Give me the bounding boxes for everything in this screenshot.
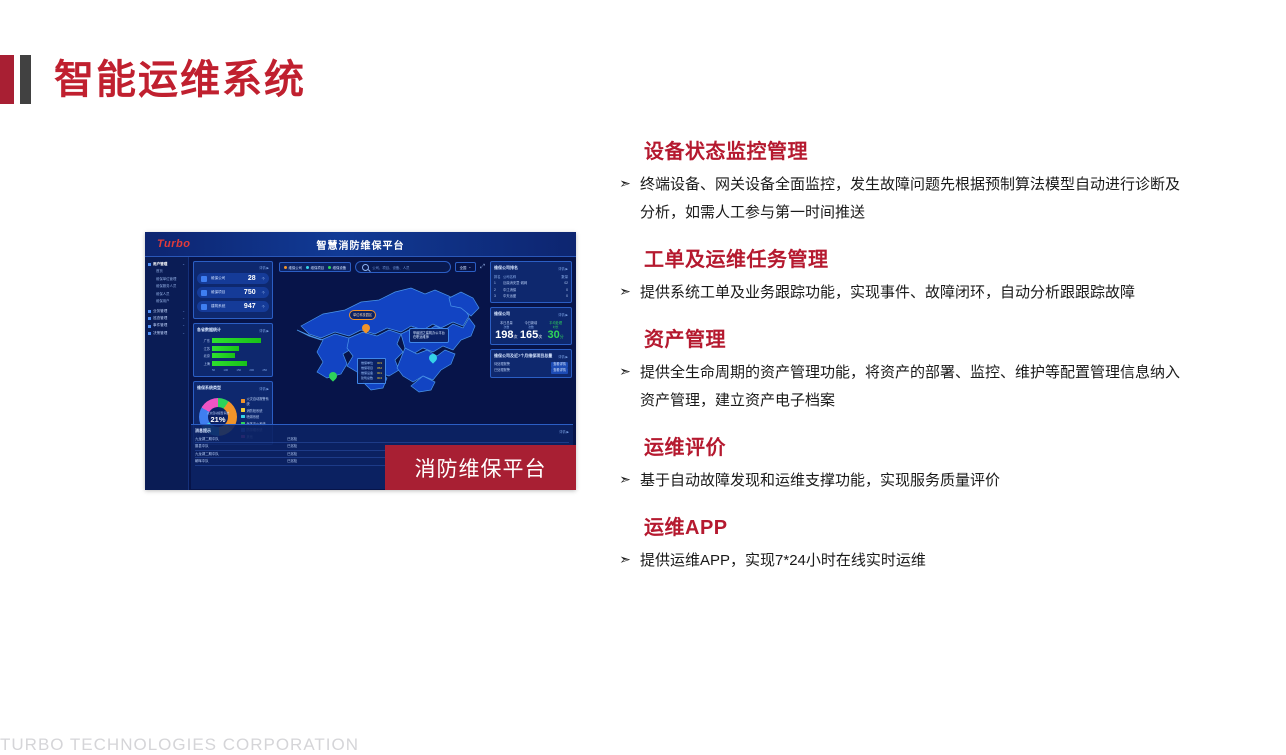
- slide-title-block: 智能运维系统: [0, 55, 306, 104]
- chip-dot-icon: [306, 266, 309, 269]
- bar-chart-card: 各省数据统计 详情 ▶ 广东 江苏 北京: [193, 323, 273, 377]
- detail-value: 004: [377, 376, 382, 381]
- message-table-more[interactable]: 详情 ▶: [559, 429, 569, 434]
- map-chip[interactable]: 维保项目: [306, 265, 324, 270]
- bar-fill: [212, 338, 261, 343]
- row-name: 九龙湖二期中队: [195, 451, 287, 457]
- fullscreen-icon[interactable]: ⤢: [480, 264, 485, 270]
- alert-card-title: 维保公司及近7个月维保项目总量: [494, 353, 552, 359]
- stat-value: 947: [244, 303, 256, 310]
- company-icon: [201, 276, 207, 282]
- menu-dot-icon: [148, 332, 151, 335]
- feature-body: 终端设备、网关设备全面监控，发生故障问题先根据预制算法模型自动进行诊断及分析，如…: [640, 171, 1188, 227]
- legend-item: 消防栓系统: [241, 408, 269, 413]
- legend-label: 消防栓系统: [247, 408, 263, 413]
- chevron-down-icon: ⌄: [468, 265, 471, 269]
- dashboard-sidebar[interactable]: 用户管理 ⌄ 首页 维保单位管理 维保服务人员 维保人员 维保用户 业务管理 ⌄…: [145, 257, 189, 490]
- rank-card-more[interactable]: 详情 ▶: [558, 266, 568, 271]
- kpi-card-more[interactable]: 详情 ▶: [558, 312, 568, 317]
- alert-action[interactable]: 查看详情: [551, 362, 568, 368]
- legend-swatch: [241, 408, 245, 412]
- menu-dot-icon: [148, 263, 151, 266]
- screenshot-caption-banner: 消防维保平台: [385, 445, 576, 490]
- row-name: 九龙湖二期中队: [195, 436, 287, 442]
- map-scope-select[interactable]: 全国 ⌄: [455, 262, 477, 272]
- feature-item-device-monitoring: 设备状态监控管理 ➣ 终端设备、网关设备全面监控，发生故障问题先根据预制算法模型…: [618, 135, 1188, 227]
- message-table-header: 消息提示 详情 ▶: [195, 428, 569, 434]
- map-pin-cyan[interactable]: [429, 354, 437, 365]
- sidebar-item-events[interactable]: 事件管理 ⌄: [145, 322, 188, 329]
- search-placeholder: 公司、项目、设备、人员: [372, 265, 409, 270]
- chip-label: 维保设备: [333, 265, 347, 270]
- feature-body: 提供运维APP，实现7*24小时在线实时运维: [640, 547, 926, 575]
- feature-body: 提供系统工单及业务跟踪功能，实现事件、故障闭环，自动分析跟跟踪故障: [640, 279, 1135, 307]
- row-status: 已巡检: [287, 443, 347, 449]
- chevron-down-icon: ⌄: [182, 323, 185, 328]
- axis-tick: 100: [223, 368, 228, 372]
- slide-footer: TURBO TECHNOLOGIES CORPORATION: [0, 735, 359, 755]
- donut-center-value: 21%: [210, 415, 225, 424]
- rank-card-title: 维保公司排名: [494, 265, 518, 271]
- dashboard-title: 智慧消防维保平台: [145, 237, 576, 252]
- kpi-item: 今日新增 次数 165次: [519, 320, 544, 341]
- feature-heading: 运维APP: [644, 511, 1188, 540]
- sidebar-item-label: 用户管理: [153, 262, 167, 267]
- rank-position: 3: [494, 293, 503, 299]
- rank-count: 0: [556, 293, 568, 299]
- menu-dot-icon: [148, 310, 151, 313]
- stat-row: 建筑系统 947 个: [197, 301, 269, 312]
- kpi-number: 30: [548, 329, 560, 341]
- map-chip[interactable]: 维保公司: [284, 265, 302, 270]
- bar-item: 江苏: [199, 346, 267, 351]
- sidebar-item-inspection[interactable]: 巡查管理 ⌄: [145, 315, 188, 322]
- sidebar-item-decision[interactable]: 决策管理 ⌄: [145, 330, 188, 337]
- sidebar-item-label: 业务管理: [153, 309, 167, 314]
- feature-item-ops-app: 运维APP ➣ 提供运维APP，实现7*24小时在线实时运维: [618, 511, 1188, 575]
- feature-item-work-order: 工单及运维任务管理 ➣ 提供系统工单及业务跟踪功能，实现事件、故障闭环，自动分析…: [618, 243, 1188, 307]
- stat-label: 维保项目: [211, 290, 240, 295]
- kpi-item: 平均处理 时长 30分: [543, 320, 568, 341]
- bar-card-header: 各省数据统计 详情 ▶: [197, 327, 269, 333]
- alert-action[interactable]: 查看详情: [551, 368, 568, 374]
- stat-label: 建筑系统: [211, 304, 240, 309]
- map-search-input[interactable]: 公司、项目、设备、人员: [355, 261, 450, 273]
- stat-value: 28: [248, 275, 256, 282]
- bar-fill: [212, 353, 235, 358]
- kpi-item: 本日总量 次数 198次: [494, 320, 519, 341]
- detail-row: 建筑总数 004: [361, 376, 382, 381]
- map-chip[interactable]: 维保设备: [328, 265, 346, 270]
- map-marker-tooltip-cyan[interactable]: 甲级团之建筑办公平台 在职运维师: [409, 328, 449, 343]
- map-marker-detail-table: 维保单位 003 维保项目 052 维保设备 001 建筑总数 004: [357, 358, 386, 384]
- map-pin-green[interactable]: [329, 372, 337, 383]
- kpi-card-header: 维保公司 详情 ▶: [494, 311, 568, 317]
- sidebar-item-user-management[interactable]: 用户管理 ⌄: [145, 261, 188, 268]
- kpi-unit: 次: [538, 334, 542, 339]
- stat-row: 维保项目 750 个: [197, 287, 269, 298]
- feature-heading: 运维评价: [644, 431, 1188, 460]
- axis-tick: 50: [212, 368, 215, 372]
- stat-card: 详情 ▶ 维保公司 28 个 维保项目 750 个 建筑系统 94: [193, 261, 273, 319]
- bullet-arrow-icon: ➣: [618, 279, 632, 303]
- bar-label: 北京: [199, 353, 210, 358]
- bar-axis: 50 100 150 200 250: [199, 368, 267, 372]
- kpi-unit: 分: [560, 334, 564, 339]
- donut-center: 火灾自动报警系统 21%: [199, 398, 237, 436]
- kpi-value: 165次: [519, 329, 544, 341]
- page-title: 智能运维系统: [54, 60, 306, 100]
- bar-fill: [212, 361, 247, 366]
- legend-item: 喷淋系统: [241, 414, 269, 419]
- building-icon: [201, 304, 207, 310]
- sidebar-subitem[interactable]: 维保用户: [145, 298, 188, 305]
- sidebar-item-label: 巡查管理: [153, 316, 167, 321]
- chip-dot-icon: [284, 266, 287, 269]
- project-icon: [201, 290, 207, 296]
- donut-ring: 火灾自动报警系统 21%: [199, 398, 237, 436]
- axis-tick: 200: [249, 368, 254, 372]
- bar-label: 江苏: [199, 346, 210, 351]
- stat-unit: 个: [262, 290, 265, 295]
- feature-body: 提供全生命周期的资产管理功能，将资产的部署、监控、维护等配置管理信息纳入资产管理…: [640, 359, 1188, 415]
- sidebar-subitem[interactable]: 维保人员: [145, 291, 188, 298]
- stat-unit: 个: [262, 304, 265, 309]
- bar-label: 广东: [199, 338, 210, 343]
- chevron-down-icon: ⌄: [182, 262, 185, 267]
- alert-card-header: 维保公司及近7个月维保项目总量 详情 ▶: [494, 353, 568, 359]
- bar-chart: 广东 江苏 北京 上海: [197, 336, 269, 373]
- alert-card: 维保公司及近7个月维保项目总量 详情 ▶ 待处理报警 查看详情 已处理报警 查看…: [490, 349, 572, 378]
- sidebar-subitem[interactable]: 维保单位管理: [145, 276, 188, 283]
- sidebar-subitem[interactable]: 维保服务人员: [145, 283, 188, 290]
- stat-row: 维保公司 28 个: [197, 273, 269, 284]
- legend-swatch: [241, 415, 245, 419]
- row-status: 已巡检: [287, 458, 347, 464]
- chevron-down-icon: ⌄: [182, 331, 185, 336]
- search-icon: [362, 264, 369, 271]
- bar-fill: [212, 346, 239, 351]
- menu-dot-icon: [148, 325, 151, 328]
- axis-tick: 250: [262, 368, 267, 372]
- bar-card-title: 各省数据统计: [197, 327, 221, 333]
- legend-swatch: [241, 399, 245, 403]
- menu-dot-icon: [148, 317, 151, 320]
- bar-item: 广东: [199, 338, 267, 343]
- stat-value: 750: [244, 289, 256, 296]
- dashboard-header: Turbo 智慧消防维保平台: [145, 232, 576, 257]
- kpi-value: 198次: [494, 329, 519, 341]
- bar-card-more[interactable]: 详情 ▶: [259, 328, 269, 333]
- kpi-number: 165: [520, 329, 538, 341]
- screenshot-caption-text: 消防维保平台: [415, 453, 547, 483]
- dashboard-screenshot: Turbo 智慧消防维保平台 用户管理 ⌄ 首页 维保单位管理 维保服务人员 维…: [145, 232, 576, 490]
- sidebar-item-business[interactable]: 业务管理 ⌄: [145, 308, 188, 315]
- bullet-arrow-icon: ➣: [618, 359, 632, 383]
- legend-label: 火灾自动报警系统: [247, 396, 270, 406]
- rank-name: 中天远盛: [503, 293, 556, 299]
- stat-label: 维保公司: [211, 276, 244, 281]
- china-map[interactable]: 单位科技园区 甲级团之建筑办公平台 在职运维师 维保单位 003 维保项目 05…: [279, 276, 485, 402]
- row-status: 已巡检: [287, 436, 347, 442]
- kpi-card: 维保公司 详情 ▶ 本日总量 次数 198次 今日新增 次数 165次: [490, 307, 572, 345]
- bar-item: 上海: [199, 361, 267, 366]
- bullet-arrow-icon: ➣: [618, 547, 632, 571]
- title-accent-bar-gray: [20, 55, 31, 104]
- kpi-value: 30分: [543, 329, 568, 341]
- alert-label: 已处理报警: [494, 368, 510, 374]
- sidebar-subitem[interactable]: 首页: [145, 268, 188, 275]
- chip-label: 维保项目: [311, 265, 325, 270]
- feature-body: 基于自动故障发现和运维支撑功能，实现服务质量评价: [640, 467, 1000, 495]
- legend-item: 火灾自动报警系统: [241, 396, 269, 406]
- stat-unit: 个: [262, 276, 265, 281]
- alert-card-more[interactable]: 详情 ▶: [558, 354, 568, 359]
- chip-dot-icon: [328, 266, 331, 269]
- alert-row: 已处理报警 查看详情: [494, 368, 568, 374]
- tooltip-sub: 在职运维师: [413, 335, 445, 340]
- bullet-arrow-icon: ➣: [618, 171, 632, 195]
- map-filter-chips[interactable]: 维保公司 维保项目 维保设备: [279, 262, 351, 272]
- donut-card-header: 维保系统类型 详情 ▶: [197, 385, 269, 391]
- sidebar-group-users[interactable]: 用户管理 ⌄ 首页 维保单位管理 维保服务人员 维保人员 维保用户: [145, 261, 188, 306]
- rank-row: 3 中天远盛 0: [494, 293, 568, 299]
- donut-card-title: 维保系统类型: [197, 385, 221, 391]
- row-status: 已巡检: [287, 451, 347, 457]
- row-name: 朝晖中队: [195, 458, 287, 464]
- feature-heading: 设备状态监控管理: [644, 135, 1188, 164]
- china-map-svg: [283, 278, 493, 398]
- donut-card-more[interactable]: 详情 ▶: [259, 386, 269, 391]
- feature-heading: 资产管理: [644, 323, 1188, 352]
- sidebar-item-label: 决策管理: [153, 331, 167, 336]
- feature-list: 设备状态监控管理 ➣ 终端设备、网关设备全面监控，发生故障问题先根据预制算法模型…: [618, 135, 1188, 591]
- feature-heading: 工单及运维任务管理: [644, 243, 1188, 272]
- feature-item-asset-management: 资产管理 ➣ 提供全生命周期的资产管理功能，将资产的部署、监控、维护等配置管理信…: [618, 323, 1188, 415]
- kpi-row: 本日总量 次数 198次 今日新增 次数 165次 平均处理 时长 30分: [494, 320, 568, 341]
- bar-item: 北京: [199, 353, 267, 358]
- rank-card: 维保公司排名 详情 ▶ 排名 公司名称 数量 1 巨鼎消安罩·城网 02 2 中…: [490, 261, 572, 303]
- bar-label: 上海: [199, 361, 210, 366]
- table-row: 九龙湖二期中队 已巡检: [195, 436, 569, 443]
- chip-label: 维保公司: [289, 265, 303, 270]
- stat-card-more[interactable]: 详情 ▶: [259, 265, 269, 270]
- sidebar-item-label: 事件管理: [153, 323, 167, 328]
- map-pin-orange[interactable]: [362, 324, 370, 335]
- kpi-card-title: 维保公司: [494, 311, 510, 317]
- chevron-down-icon: ⌄: [182, 316, 185, 321]
- title-accent-bar-red: [0, 55, 14, 104]
- kpi-unit: 次: [514, 334, 518, 339]
- stat-card-header: 详情 ▶: [197, 265, 269, 270]
- chevron-down-icon: ⌄: [182, 309, 185, 314]
- axis-tick: 150: [236, 368, 241, 372]
- row-name: 藤县中队: [195, 443, 287, 449]
- feature-item-ops-evaluation: 运维评价 ➣ 基于自动故障发现和运维支撑功能，实现服务质量评价: [618, 431, 1188, 495]
- bullet-arrow-icon: ➣: [618, 467, 632, 491]
- rank-card-header: 维保公司排名 详情 ▶: [494, 265, 568, 271]
- map-scope-label: 全国: [460, 265, 467, 270]
- detail-key: 建筑总数: [361, 376, 373, 381]
- kpi-number: 198: [495, 329, 513, 341]
- map-marker-tooltip-orange[interactable]: 单位科技园区: [349, 310, 376, 320]
- legend-label: 喷淋系统: [247, 414, 260, 419]
- map-toolbar: 维保公司 维保项目 维保设备 公司、项目、设备、人员 全: [279, 261, 485, 273]
